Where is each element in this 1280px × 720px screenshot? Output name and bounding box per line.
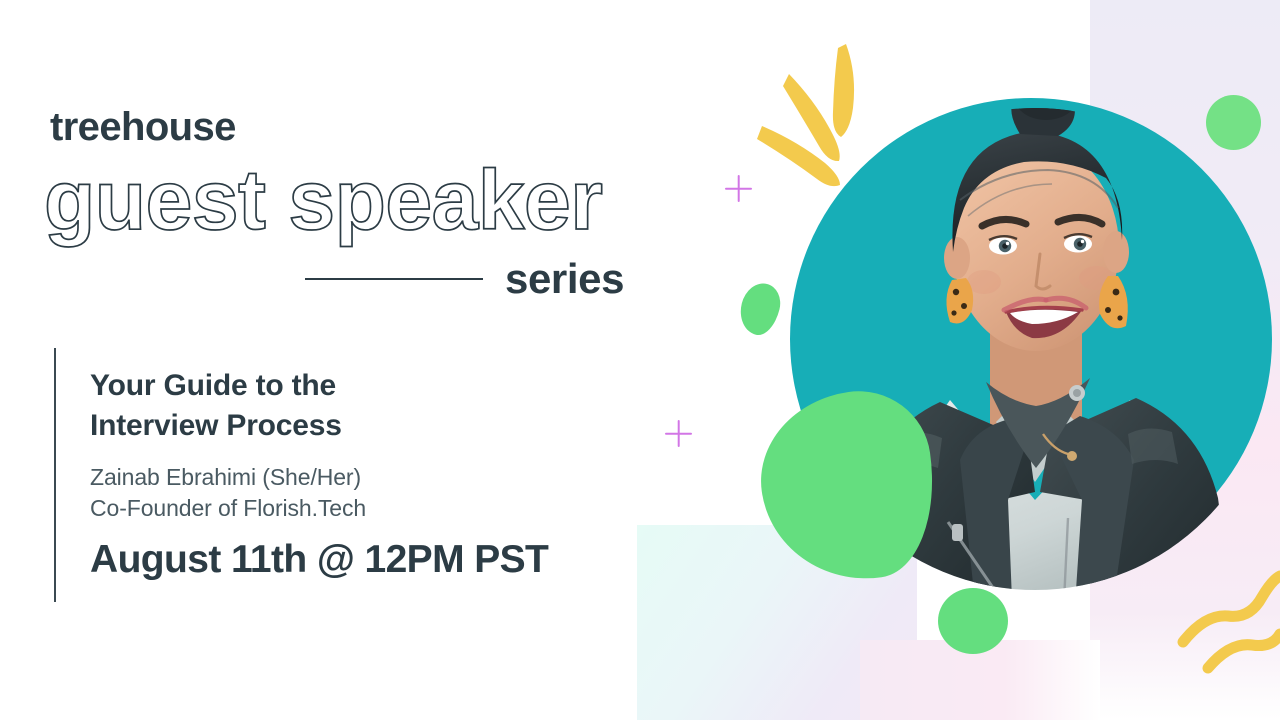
speaker-name: Zainab Ebrahimi (She/Her)	[90, 462, 610, 493]
session-title: Your Guide to the Interview Process	[90, 366, 610, 445]
headline-outline-text: guest speaker	[44, 158, 602, 242]
session-details: Your Guide to the Interview Process Zain…	[90, 366, 610, 582]
plus-mark-icon-mid	[665, 420, 692, 447]
speaker-role: Co-Founder of Florish.Tech	[90, 493, 610, 524]
green-blob-small	[735, 279, 784, 339]
green-dot-icon-bottom	[938, 588, 1008, 654]
promo-slide: treehouse guest speaker series Your Guid…	[0, 0, 1280, 720]
brand-wordmark: treehouse	[50, 107, 236, 147]
series-row: series	[305, 258, 624, 300]
series-label: series	[505, 258, 624, 300]
series-divider-rule	[305, 278, 483, 280]
session-datetime: August 11th @ 12PM PST	[90, 539, 610, 582]
plus-mark-icon-top	[725, 175, 752, 202]
session-title-line-1: Your Guide to the	[90, 366, 610, 406]
accent-vertical-bar	[54, 348, 56, 602]
session-title-line-2: Interview Process	[90, 406, 610, 446]
